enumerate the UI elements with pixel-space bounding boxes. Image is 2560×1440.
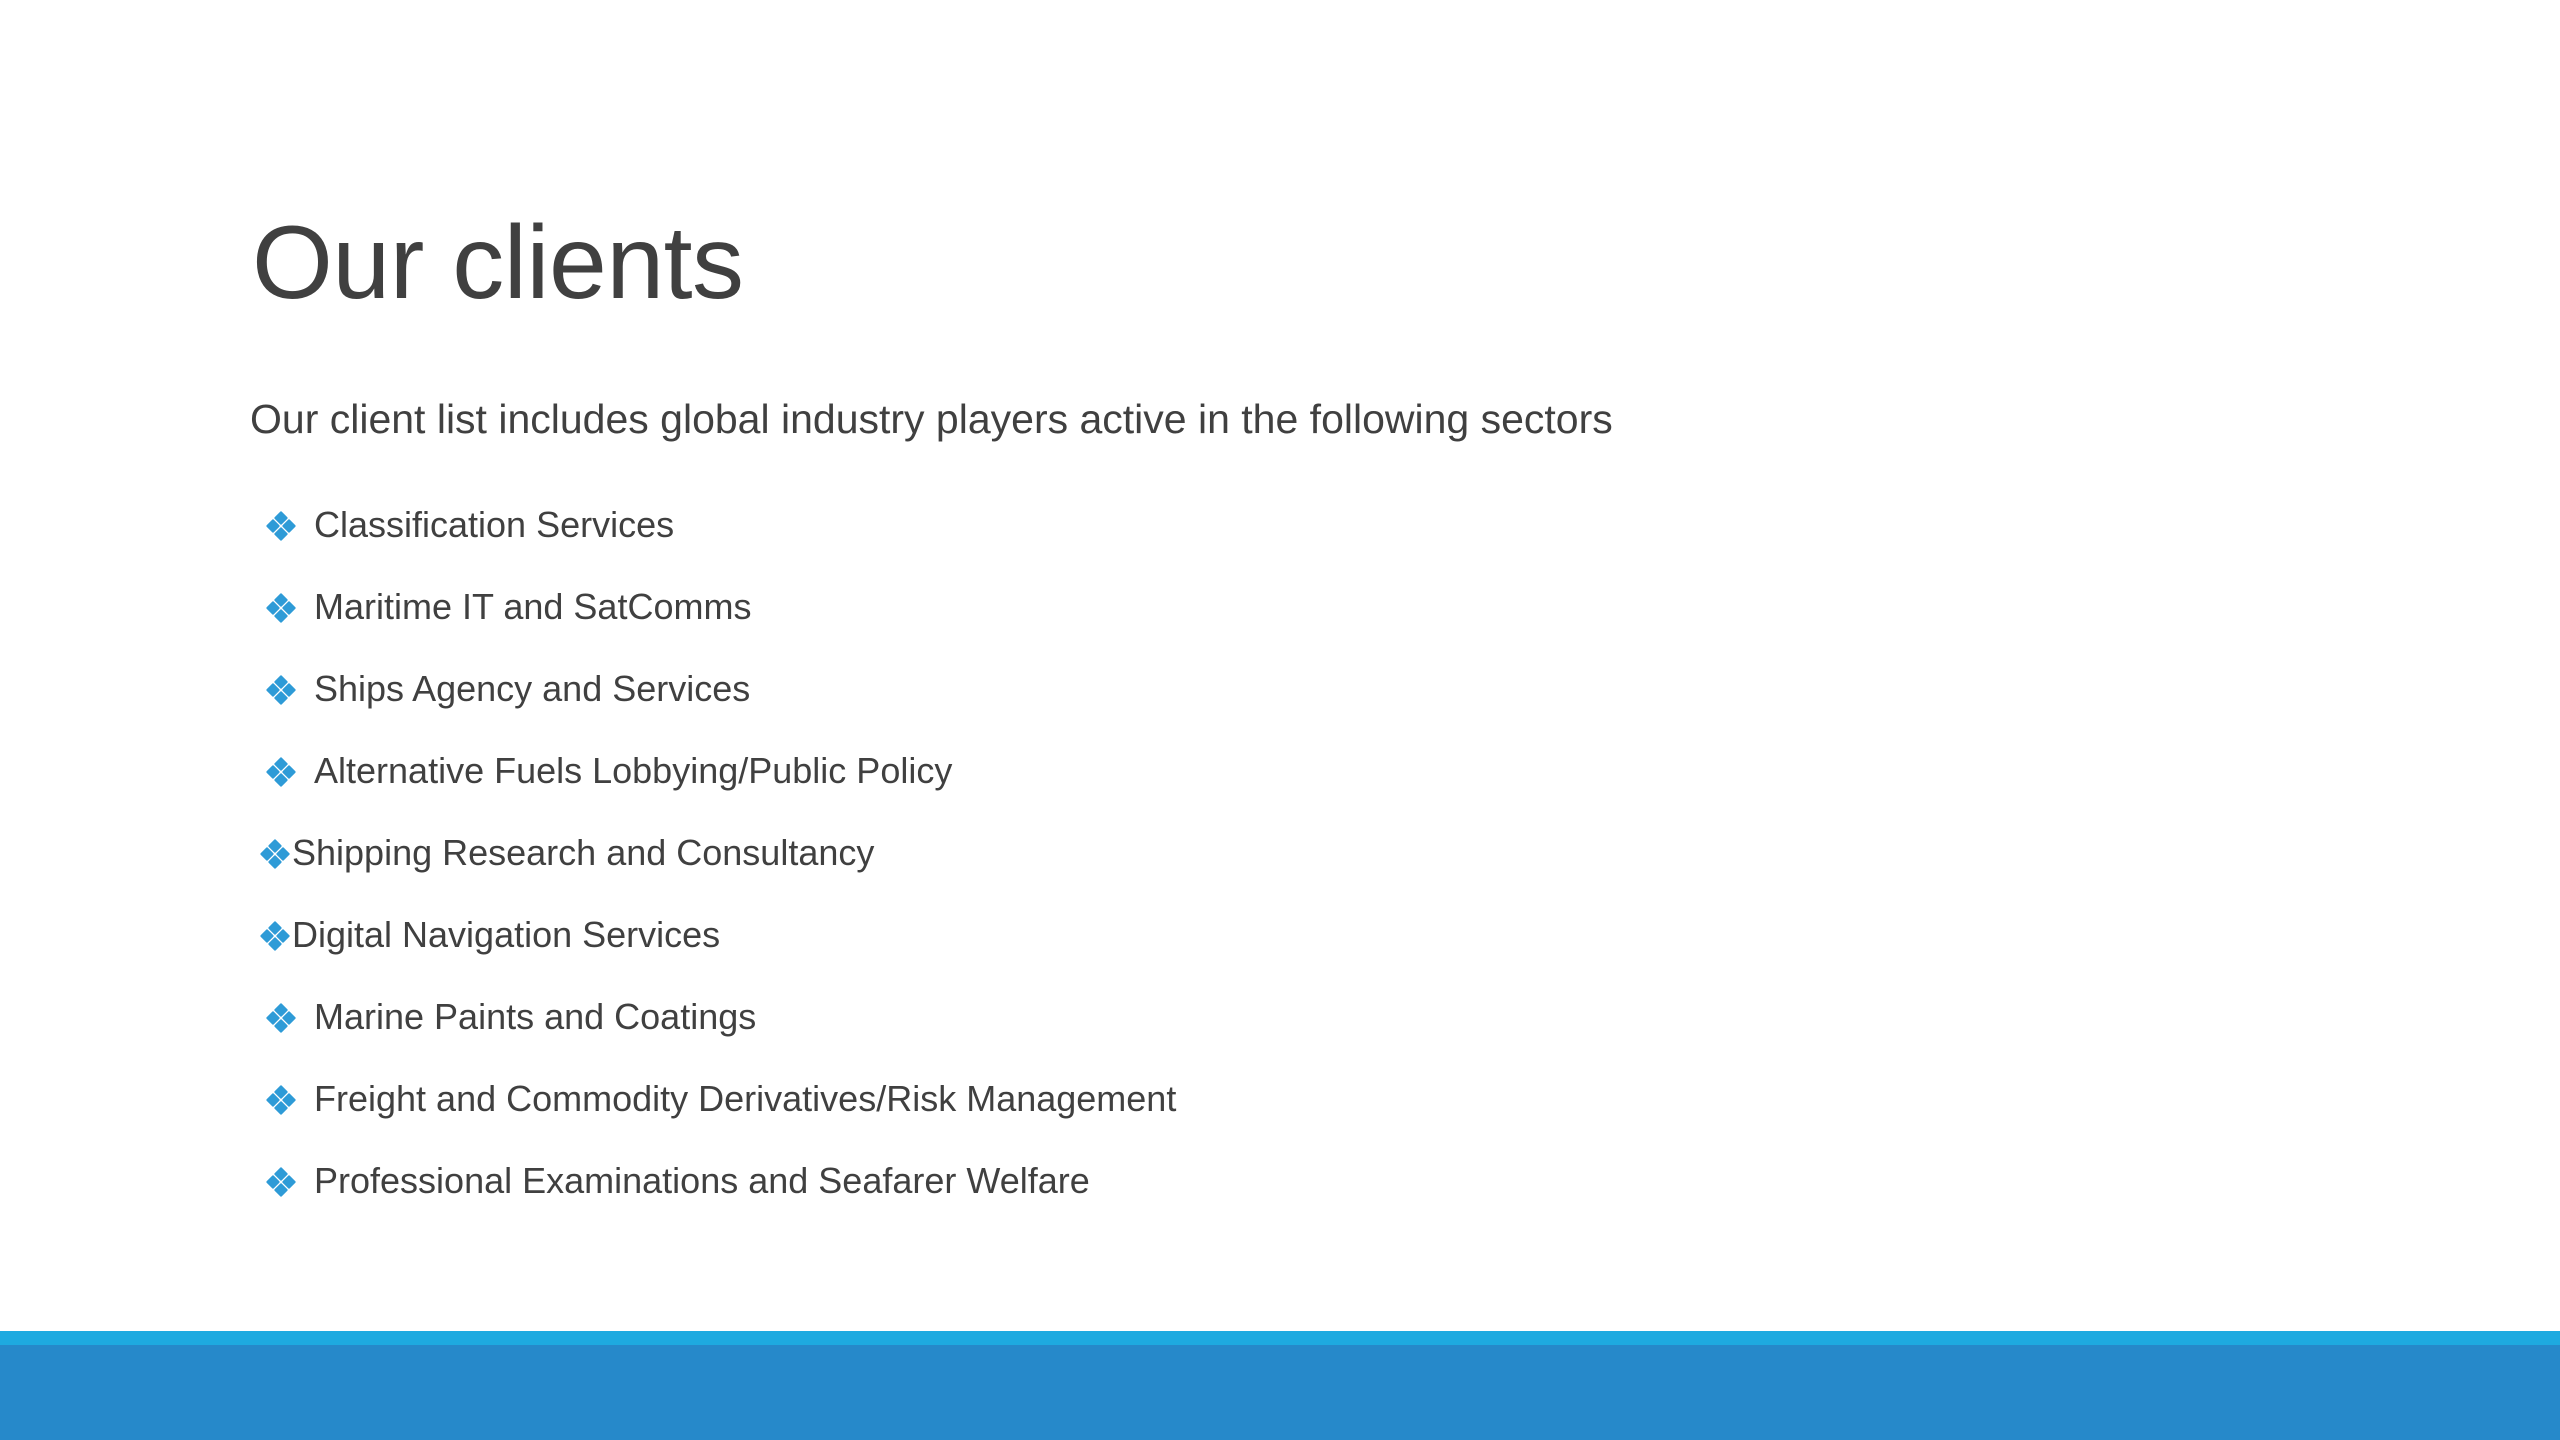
list-item-label: Marine Paints and Coatings [314, 996, 756, 1038]
list-item-label: Digital Navigation Services [292, 914, 720, 956]
list-item: Classification Services [268, 484, 2268, 566]
four-diamond-bullet-icon [268, 1168, 294, 1194]
slide-subtitle: Our client list includes global industry… [250, 395, 1613, 444]
list-item-label: Classification Services [314, 504, 674, 546]
four-diamond-bullet-icon [268, 1086, 294, 1112]
list-item-label: Professional Examinations and Seafarer W… [314, 1160, 1090, 1202]
four-diamond-bullet-icon [268, 1004, 294, 1030]
list-item: Shipping Research and Consultancy [262, 812, 2268, 894]
list-item: Digital Navigation Services [262, 894, 2268, 976]
four-diamond-bullet-icon [268, 676, 294, 702]
four-diamond-bullet-icon [262, 922, 288, 948]
four-diamond-bullet-icon [268, 512, 294, 538]
list-item: Professional Examinations and Seafarer W… [268, 1140, 2268, 1222]
sector-bullet-list: Classification Services Maritime IT and … [268, 484, 2268, 1222]
four-diamond-bullet-icon [268, 758, 294, 784]
list-item-label: Ships Agency and Services [314, 668, 750, 710]
list-item: Marine Paints and Coatings [268, 976, 2268, 1058]
list-item-label: Alternative Fuels Lobbying/Public Policy [314, 750, 952, 792]
list-item: Freight and Commodity Derivatives/Risk M… [268, 1058, 2268, 1140]
list-item: Alternative Fuels Lobbying/Public Policy [268, 730, 2268, 812]
four-diamond-bullet-icon [262, 840, 288, 866]
page-title: Our clients [252, 206, 744, 320]
list-item-label: Maritime IT and SatComms [314, 586, 751, 628]
four-diamond-bullet-icon [268, 594, 294, 620]
slide: Our clients Our client list includes glo… [0, 0, 2560, 1440]
list-item: Maritime IT and SatComms [268, 566, 2268, 648]
footer-accent-band-dark [0, 1345, 2560, 1440]
list-item-label: Shipping Research and Consultancy [292, 832, 874, 874]
list-item-label: Freight and Commodity Derivatives/Risk M… [314, 1078, 1176, 1120]
list-item: Ships Agency and Services [268, 648, 2268, 730]
footer-accent-band-light [0, 1331, 2560, 1345]
